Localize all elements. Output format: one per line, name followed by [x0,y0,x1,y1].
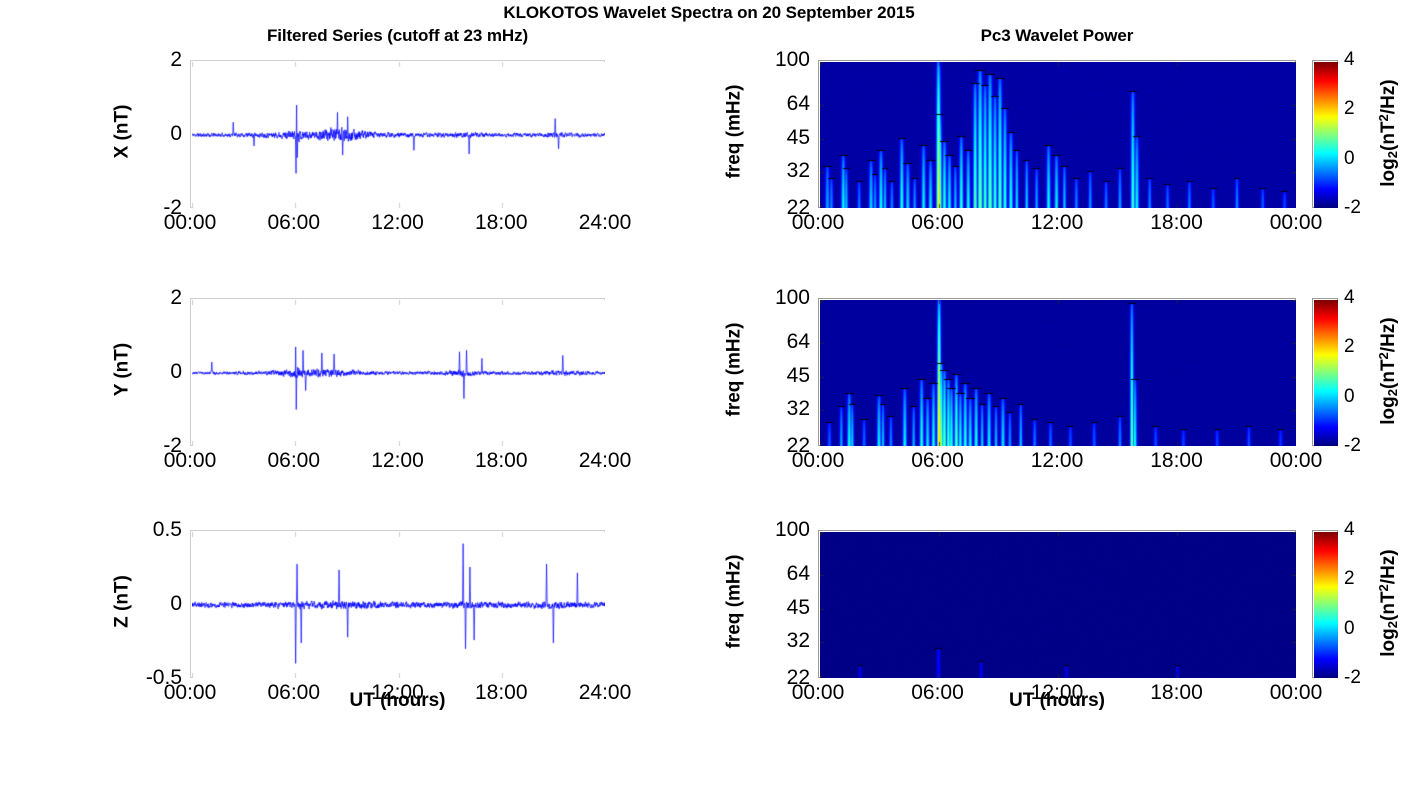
xtick-x-wavelet-power-4: 00:00 [1236,212,1356,233]
xtick-x-filtered-series-4: 24:00 [545,212,665,233]
xtick-y-wavelet-power-2: 12:00 [997,450,1117,471]
axes-frame-y-wavelet-power [818,298,1296,446]
yaxis-label-x-filtered-series: X (nT) [113,52,132,212]
left-xaxis-label: UT (hours) [190,690,605,712]
xtick-y-filtered-series-0: 00:00 [130,450,250,471]
plot-canvas-z-filtered-series [192,532,605,678]
plot-canvas-x-wavelet-power [820,62,1296,208]
right-xaxis-label: UT (hours) [818,690,1296,712]
panel-z-filtered-series: 0.50-0.500:0006:0012:0018:0024:00Z (nT) [190,530,605,678]
xtick-y-wavelet-power-4: 00:00 [1236,450,1356,471]
yaxis-label-z-filtered-series: Z (nT) [113,522,132,682]
xtick-x-wavelet-power-2: 12:00 [997,212,1117,233]
colorbar-gradient-2 [1314,532,1338,678]
colorbar-tick-1-0: 4 [1344,288,1355,307]
xtick-x-filtered-series-1: 06:00 [234,212,354,233]
colorbar-label-2: log2(nT2/Hz) [1377,523,1399,683]
plot-canvas-x-filtered-series [192,62,605,208]
colorbar-label-text: log2(nT2/Hz) [1378,549,1399,656]
colorbar-tick-2-2: 0 [1344,619,1355,638]
colorbar-tick-0-3: -2 [1344,198,1361,217]
axes-frame-z-filtered-series [190,530,605,678]
plot-canvas-y-wavelet-power [820,300,1296,446]
colorbar-2 [1312,530,1338,678]
xtick-y-filtered-series-4: 24:00 [545,450,665,471]
axes-frame-y-filtered-series [190,298,605,446]
colorbar-gradient-1 [1314,300,1338,446]
colorbar-0 [1312,60,1338,208]
colorbar-label-0: log2(nT2/Hz) [1377,53,1399,213]
colorbar-1 [1312,298,1338,446]
colorbar-tick-0-1: 2 [1344,99,1355,118]
xtick-y-filtered-series-3: 18:00 [441,450,561,471]
colorbar-label-text: log2(nT2/Hz) [1378,79,1399,186]
colorbar-label-1: log2(nT2/Hz) [1377,291,1399,451]
colorbar-tick-1-3: -2 [1344,436,1361,455]
plot-canvas-z-wavelet-power [820,532,1296,678]
colorbar-tick-2-1: 2 [1344,569,1355,588]
colorbar-tick-1-2: 0 [1344,387,1355,406]
axes-frame-z-wavelet-power [818,530,1296,678]
figure-title: KLOKOTOS Wavelet Spectra on 20 September… [0,3,1418,23]
plot-canvas-y-filtered-series [192,300,605,446]
panel-x-wavelet-power: 1006445322200:0006:0012:0018:0000:00freq… [818,60,1296,208]
xtick-y-wavelet-power-3: 18:00 [1117,450,1237,471]
left-column-title: Filtered Series (cutoff at 23 mHz) [190,26,605,46]
axes-frame-x-filtered-series [190,60,605,208]
panel-z-wavelet-power: 1006445322200:0006:0012:0018:0000:00freq… [818,530,1296,678]
xtick-x-filtered-series-3: 18:00 [441,212,561,233]
panel-x-filtered-series: 20-200:0006:0012:0018:0024:00X (nT) [190,60,605,208]
right-column-title: Pc3 Wavelet Power [818,26,1296,46]
colorbar-tick-0-2: 0 [1344,149,1355,168]
xtick-y-wavelet-power-1: 06:00 [878,450,998,471]
figure-root: KLOKOTOS Wavelet Spectra on 20 September… [0,0,1418,788]
colorbar-tick-0-0: 4 [1344,50,1355,69]
colorbar-tick-2-3: -2 [1344,668,1361,687]
xtick-x-wavelet-power-0: 00:00 [758,212,878,233]
yaxis-label-y-wavelet-power: freq (mHz) [725,290,744,450]
xtick-x-filtered-series-2: 12:00 [338,212,458,233]
xtick-x-wavelet-power-1: 06:00 [878,212,998,233]
colorbar-label-text: log2(nT2/Hz) [1378,317,1399,424]
panel-y-wavelet-power: 1006445322200:0006:0012:0018:0000:00freq… [818,298,1296,446]
yaxis-label-z-wavelet-power: freq (mHz) [725,522,744,682]
colorbar-gradient-0 [1314,62,1338,208]
yaxis-label-x-wavelet-power: freq (mHz) [725,52,744,212]
colorbar-tick-2-0: 4 [1344,520,1355,539]
xtick-x-wavelet-power-3: 18:00 [1117,212,1237,233]
panel-y-filtered-series: 20-200:0006:0012:0018:0024:00Y (nT) [190,298,605,446]
yaxis-label-y-filtered-series: Y (nT) [113,290,132,450]
axes-frame-x-wavelet-power [818,60,1296,208]
xtick-y-filtered-series-1: 06:00 [234,450,354,471]
xtick-x-filtered-series-0: 00:00 [130,212,250,233]
xtick-y-wavelet-power-0: 00:00 [758,450,878,471]
xtick-y-filtered-series-2: 12:00 [338,450,458,471]
colorbar-tick-1-1: 2 [1344,337,1355,356]
